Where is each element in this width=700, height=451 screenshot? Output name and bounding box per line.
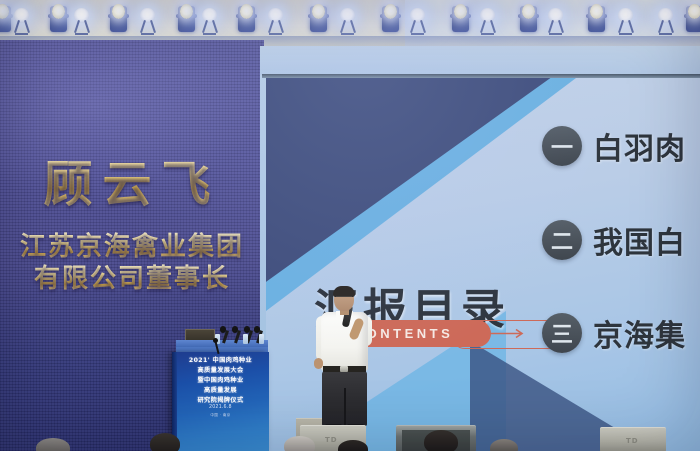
podium-date: 2021.6.8 bbox=[176, 404, 265, 410]
water-bottle-3 bbox=[259, 334, 264, 344]
toc-item-2: 二 我国白 bbox=[542, 218, 686, 262]
speaker-belt-buckle bbox=[340, 366, 348, 372]
audience-head-5 bbox=[424, 430, 458, 451]
podium-line-4: 高质量发展 bbox=[176, 386, 265, 396]
podium-microphone-capsule bbox=[213, 338, 218, 343]
light-stand-base bbox=[549, 33, 562, 35]
light-beam-lens bbox=[202, 8, 217, 23]
light-stand-base bbox=[141, 33, 154, 35]
light-beam-lens bbox=[590, 4, 603, 19]
light-beam-lens bbox=[480, 8, 495, 23]
speaker-hand-left bbox=[314, 358, 323, 369]
moving-head-light-7 bbox=[178, 6, 195, 32]
light-beam-lens bbox=[688, 4, 700, 19]
moving-head-light-5 bbox=[110, 6, 127, 32]
light-beam-lens bbox=[268, 8, 283, 23]
light-stand-base bbox=[203, 33, 216, 35]
toc-number-1: 一 bbox=[542, 126, 582, 166]
toc-label-1: 白羽肉 bbox=[593, 124, 686, 168]
light-beam-lens bbox=[658, 8, 673, 23]
moving-head-light-13 bbox=[382, 6, 399, 32]
moving-head-light-11 bbox=[310, 6, 327, 32]
table-microphone-capsule-4 bbox=[254, 326, 260, 333]
moving-head-light-19 bbox=[588, 6, 605, 32]
light-stand-base bbox=[15, 33, 28, 35]
speaker-name: 顾云飞 bbox=[0, 145, 264, 216]
moving-head-light-17 bbox=[520, 6, 537, 32]
light-beam-lens bbox=[112, 4, 125, 19]
light-beam-lens bbox=[340, 8, 355, 23]
toc-number-3: 三 bbox=[542, 313, 582, 353]
light-beam-lens bbox=[180, 4, 193, 19]
light-beam-lens bbox=[454, 4, 467, 19]
screen-top-band bbox=[260, 46, 700, 75]
toc-label-2: 我国白 bbox=[593, 218, 686, 262]
light-stand-base bbox=[411, 33, 424, 35]
moving-head-light-3 bbox=[50, 6, 67, 32]
table-microphone-capsule-3 bbox=[244, 326, 250, 333]
podium-line-2: 高质量发展大会 bbox=[176, 366, 265, 376]
light-beam-lens bbox=[522, 4, 535, 19]
table-microphone-capsule-1 bbox=[220, 326, 226, 333]
moving-head-light-22 bbox=[686, 6, 700, 32]
podium-location: 中国 · 南京 bbox=[176, 413, 265, 418]
audience-head-2 bbox=[150, 433, 180, 451]
light-stand-base bbox=[619, 33, 632, 35]
moving-head-light-9 bbox=[238, 6, 255, 32]
eyeglasses-icon bbox=[336, 296, 352, 301]
light-beam-lens bbox=[618, 8, 633, 23]
audience-head-4 bbox=[338, 440, 368, 451]
table-microphone-capsule-2 bbox=[232, 326, 238, 333]
light-beam-lens bbox=[312, 4, 325, 19]
light-stand-base bbox=[269, 33, 282, 35]
light-beam-lens bbox=[410, 8, 425, 23]
audience-head-6 bbox=[490, 439, 518, 451]
light-beam-lens bbox=[240, 4, 253, 19]
water-bottle-2 bbox=[243, 334, 248, 344]
stage-monitor-right-logo: TD bbox=[626, 437, 639, 445]
audience-head-1 bbox=[36, 438, 70, 451]
speaker-title-line-2: 有限公司董事长 bbox=[0, 262, 264, 296]
toc-label-3: 京海集 bbox=[593, 311, 686, 355]
light-stand-base bbox=[341, 33, 354, 35]
speaker-leg-split bbox=[344, 388, 346, 426]
speaker-title-line-1: 江苏京海禽业集团 bbox=[0, 230, 264, 264]
stage-monitor-left-logo: TD bbox=[325, 436, 338, 444]
light-beam-lens bbox=[52, 4, 65, 19]
light-beam-lens bbox=[74, 8, 89, 23]
podium-line-1: 2021' 中国肉鸡种业 bbox=[176, 356, 265, 366]
slide-dark-triangle bbox=[266, 78, 556, 289]
podium-event-title: 2021' 中国肉鸡种业 高质量发展大会 暨中国肉鸡种业 高质量发展 研究院揭牌… bbox=[176, 356, 265, 406]
toc-item-3: 三 京海集 bbox=[542, 311, 686, 355]
light-stand-base bbox=[659, 33, 672, 35]
light-beam-lens bbox=[14, 8, 29, 23]
light-beam-lens bbox=[384, 4, 397, 19]
event-stage-photo: 顾云飞 江苏京海禽业集团 有限公司董事长 汇报目录 CONTENTS 一 白羽肉… bbox=[0, 0, 700, 451]
moving-head-light-1 bbox=[0, 6, 11, 32]
light-beam-lens bbox=[548, 8, 563, 23]
toc-item-1: 一 白羽肉 bbox=[542, 124, 686, 168]
toc-number-2: 二 bbox=[542, 220, 582, 260]
moving-head-light-15 bbox=[452, 6, 469, 32]
audience-head-3 bbox=[284, 436, 315, 451]
podium-line-3: 暨中国肉鸡种业 bbox=[176, 376, 265, 386]
light-beam-lens bbox=[140, 8, 155, 23]
light-stand-base bbox=[481, 33, 494, 35]
light-stand-base bbox=[75, 33, 88, 35]
